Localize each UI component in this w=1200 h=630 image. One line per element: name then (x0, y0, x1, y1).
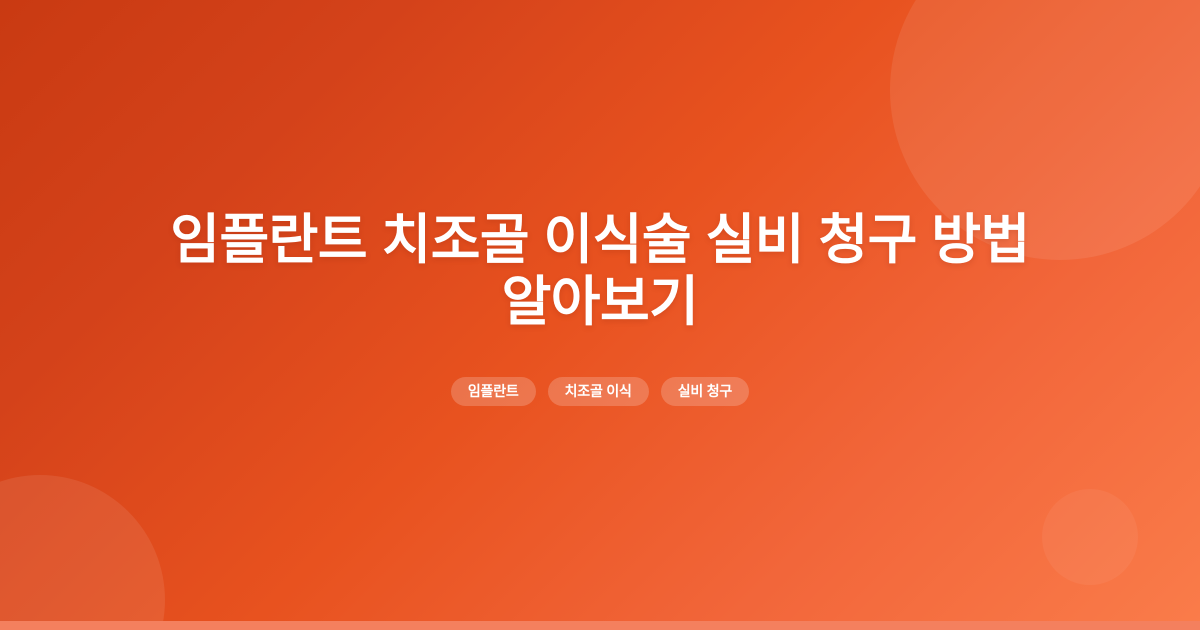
page-title: 임플란트 치조골 이식술 실비 청구 방법 알아보기 (170, 209, 1030, 333)
tag-pill-insurance-claim[interactable]: 실비 청구 (661, 377, 749, 406)
decorative-circle-bottom-right (1042, 489, 1138, 585)
tag-pill-bone-graft[interactable]: 치조골 이식 (548, 377, 649, 406)
og-image-card: 임플란트 치조골 이식술 실비 청구 방법 알아보기 임플란트 치조골 이식 실… (0, 0, 1200, 630)
decorative-circle-bottom-left (0, 475, 165, 630)
tag-list: 임플란트 치조골 이식 실비 청구 (451, 377, 749, 406)
bottom-accent-strip (0, 621, 1200, 630)
card-content: 임플란트 치조골 이식술 실비 청구 방법 알아보기 임플란트 치조골 이식 실… (80, 209, 1120, 422)
tag-pill-implant[interactable]: 임플란트 (451, 377, 536, 406)
